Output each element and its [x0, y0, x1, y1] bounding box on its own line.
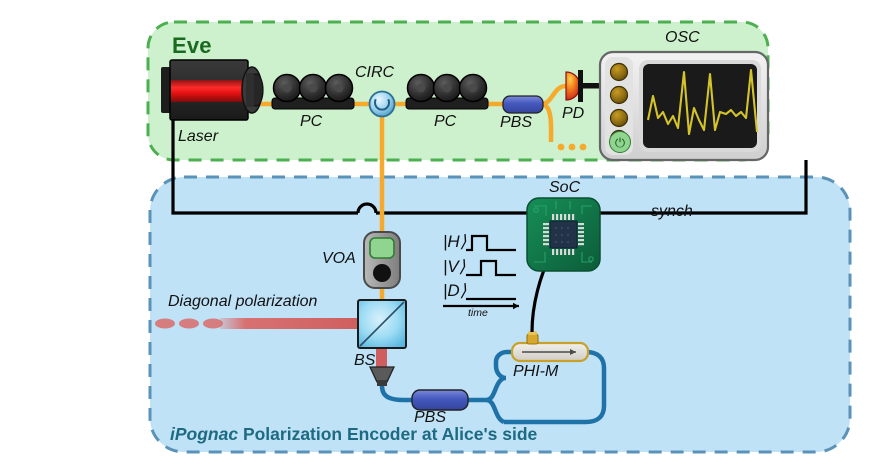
laser-source — [161, 60, 263, 120]
state-ket-v: |V⟩ — [443, 257, 465, 277]
state-ket-h: |H⟩ — [443, 232, 466, 252]
label-circ: CIRC — [355, 64, 394, 82]
alice-box-title: iPognac Polarization Encoder at Alice's … — [170, 424, 537, 445]
label-time-axis: time — [468, 307, 488, 319]
label-pc-1: PC — [300, 113, 322, 131]
alice-box — [150, 177, 850, 452]
beam-splitter — [358, 300, 406, 348]
polarization-controller-2 — [406, 75, 488, 110]
label-laser: Laser — [178, 128, 218, 146]
label-pbs-eve: PBS — [500, 114, 532, 132]
optical-circulator — [370, 92, 395, 117]
label-pc-2: PC — [434, 113, 456, 131]
system-on-chip — [527, 198, 600, 271]
label-bs: BS — [354, 352, 375, 370]
alice-title-rest: Polarization Encoder at Alice's side — [238, 424, 537, 444]
label-synch: synch — [651, 203, 693, 221]
polarization-controller-1 — [272, 75, 354, 110]
variable-optical-attenuator — [364, 232, 400, 288]
label-pd: PD — [562, 105, 584, 123]
eve-polarizing-beam-splitter — [503, 96, 543, 113]
figure-canvas: Eve Laser PC CIRC PC PBS PD OSC VOA BS P… — [0, 0, 885, 468]
power-icon[interactable]: ⏻ — [609, 131, 631, 153]
label-soc: SoC — [549, 179, 580, 197]
alice-polarizing-beam-splitter — [412, 390, 468, 410]
label-osc: OSC — [665, 29, 700, 47]
label-voa: VOA — [322, 250, 356, 268]
alice-title-italic: iPognac — [170, 424, 238, 444]
fiber-dots-orange — [558, 144, 587, 151]
eve-box-title: Eve — [172, 33, 212, 59]
label-diagonal-polarization: Diagonal polarization — [168, 293, 317, 311]
label-phi-m: PHI-M — [513, 363, 558, 381]
state-ket-d: |D⟩ — [443, 281, 466, 301]
